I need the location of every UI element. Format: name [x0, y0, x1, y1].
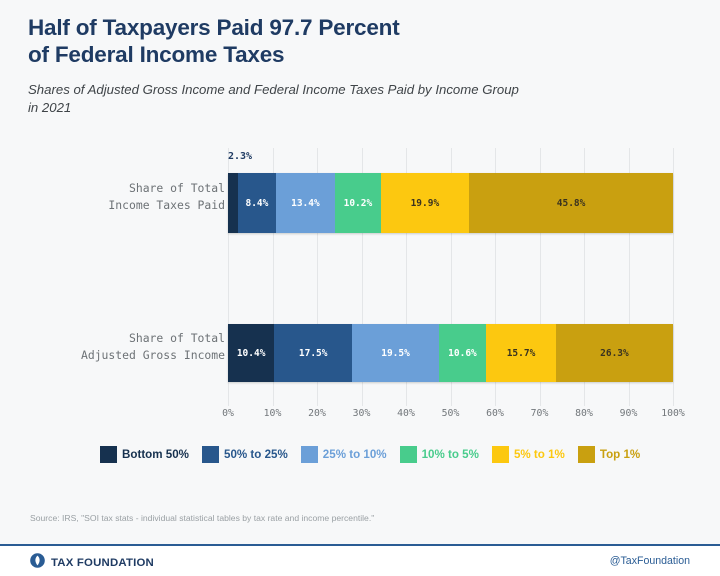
bar-segment: 45.8% [469, 173, 673, 233]
legend-item[interactable]: 50% to 25% [202, 446, 288, 463]
x-axis-tick: 60% [486, 408, 504, 419]
legend-swatch-icon [492, 446, 509, 463]
category-label-adjusted-gross-income: Share of Total Adjusted Gross Income [81, 330, 225, 363]
bar-segment: 17.5% [274, 324, 352, 382]
x-axis-tick: 90% [620, 408, 638, 419]
legend-label: 10% to 5% [422, 448, 479, 461]
legend-item[interactable]: 25% to 10% [301, 446, 387, 463]
category-label-income-taxes-paid: Share of Total Income Taxes Paid [108, 180, 225, 213]
bar-segment: 10.2% [335, 173, 380, 233]
legend-item[interactable]: Top 1% [578, 446, 640, 463]
legend-item[interactable]: 5% to 1% [492, 446, 565, 463]
x-axis-tick: 20% [308, 408, 326, 419]
plot-area: 2.3% 8.4%13.4%10.2%19.9%45.8% 10.4%17.5%… [228, 148, 673, 406]
bar-segment: 15.7% [486, 324, 556, 382]
x-axis-tick: 30% [353, 408, 371, 419]
chart-legend: Bottom 50%50% to 25%25% to 10%10% to 5%5… [100, 440, 700, 468]
chart-card: Half of Taxpayers Paid 97.7 Percent of F… [0, 0, 720, 576]
bar-segment: 13.4% [276, 173, 336, 233]
legend-swatch-icon [578, 446, 595, 463]
legend-swatch-icon [100, 446, 117, 463]
footer-brand: TAX FOUNDATION [30, 553, 154, 573]
x-axis-tick: 0% [222, 408, 234, 419]
legend-label: Bottom 50% [122, 448, 189, 461]
source-note: Source: IRS, "SOI tax stats - individual… [30, 513, 374, 523]
legend-item[interactable]: Bottom 50% [100, 446, 189, 463]
footer-bar: TAX FOUNDATION @TaxFoundation [0, 544, 720, 576]
social-handle[interactable]: @TaxFoundation [610, 555, 690, 567]
bar-segment: 8.4% [238, 173, 275, 233]
x-axis-tick: 10% [264, 408, 282, 419]
legend-label: 50% to 25% [224, 448, 288, 461]
x-axis-tick: 50% [442, 408, 460, 419]
legend-swatch-icon [301, 446, 318, 463]
chart-header: Half of Taxpayers Paid 97.7 Percent of F… [28, 14, 688, 117]
legend-label: 5% to 1% [514, 448, 565, 461]
legend-label: Top 1% [600, 448, 640, 461]
bar-segment: 26.3% [556, 324, 673, 382]
legend-swatch-icon [202, 446, 219, 463]
gridline [673, 148, 674, 406]
legend-label: 25% to 10% [323, 448, 387, 461]
chart-title: Half of Taxpayers Paid 97.7 Percent of F… [28, 14, 688, 69]
bar-segment: 10.6% [439, 324, 486, 382]
x-axis-tick: 80% [575, 408, 593, 419]
stacked-bar-adjusted-gross-income: 10.4%17.5%19.5%10.6%15.7%26.3% [228, 324, 673, 382]
bar-segment [228, 173, 238, 233]
bar-segment: 19.5% [352, 324, 439, 382]
x-axis: 0%10%20%30%40%50%60%70%80%90%100% [228, 408, 673, 424]
legend-item[interactable]: 10% to 5% [400, 446, 479, 463]
chart-subtitle: Shares of Adjusted Gross Income and Fede… [28, 81, 688, 117]
x-axis-tick: 100% [661, 408, 685, 419]
stacked-bar-income-taxes-paid: 8.4%13.4%10.2%19.9%45.8% [228, 173, 673, 233]
legend-swatch-icon [400, 446, 417, 463]
x-axis-tick: 40% [397, 408, 415, 419]
bar-segment: 10.4% [228, 324, 274, 382]
tax-foundation-logo-icon [30, 553, 45, 573]
x-axis-tick: 70% [531, 408, 549, 419]
brand-name: TAX FOUNDATION [51, 557, 154, 569]
callout-label-bottom50-taxes: 2.3% [228, 151, 252, 162]
bar-segment: 19.9% [381, 173, 470, 233]
